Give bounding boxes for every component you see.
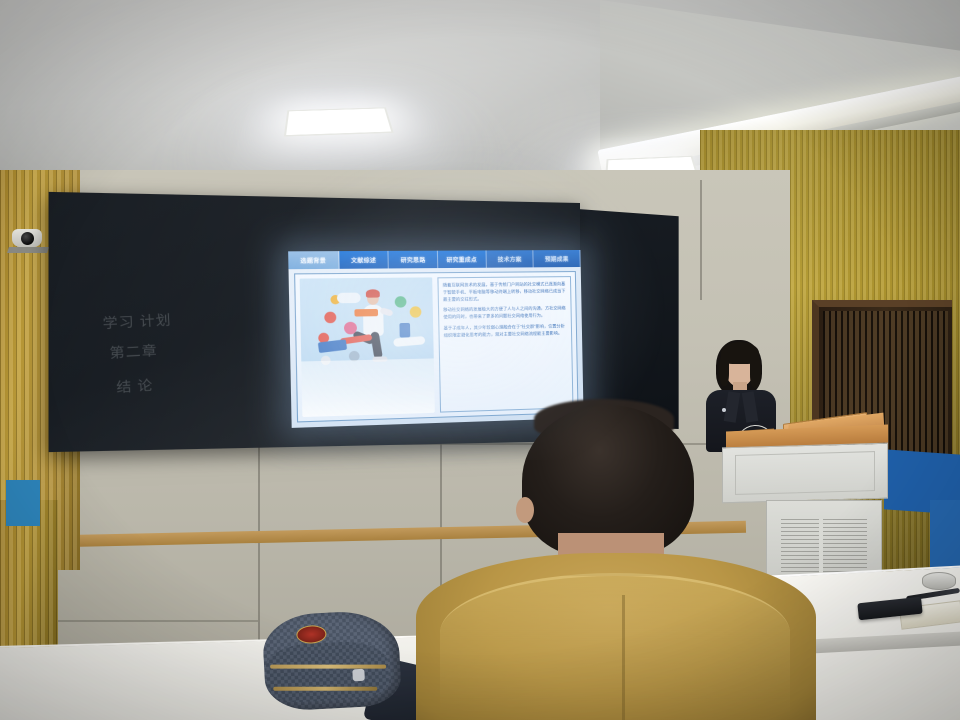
slide-paragraph-1: 随着互联网技术的发展，基于传统门户网站的社交模式已逐渐向基于智能手机、平板电脑等… [443, 281, 567, 303]
social-media-illustration [300, 277, 435, 417]
tab-research-approach[interactable]: 研究思路 [389, 251, 438, 269]
camera-lens-icon [21, 232, 34, 245]
seated-student-back-view [430, 405, 830, 720]
tab-research-focus[interactable]: 研究重成点 [438, 250, 487, 268]
slide-surface: 选题背景 文献综述 研究思路 研究重成点 技术方案 预期成果 [288, 250, 583, 428]
chalk-note: 学习 计划 [102, 309, 172, 333]
backpack-flap [265, 640, 390, 704]
ceiling-led-panel-left [284, 107, 394, 136]
slide-paragraph-2: 移动社交网络的发展极大的方便了人与人之间的沟通，方社交网络使用的同时，也带来了更… [443, 305, 567, 321]
presenter-hair-side-left [719, 352, 729, 386]
illustration-icon-thumbsup [399, 323, 410, 338]
slide-content-area: 随着互联网技术的发展，基于传统门户网站的社交模式已逐渐向基于智能手机、平板电脑等… [294, 271, 578, 422]
backpack-zipper-lower [273, 687, 377, 691]
illustration-icon-heart [324, 312, 336, 324]
tab-literature-review[interactable]: 文献综述 [339, 251, 389, 269]
illustration-card-white [393, 336, 425, 347]
tab-topic-background[interactable]: 选题背景 [288, 251, 339, 269]
camera-mount-bracket [7, 247, 49, 253]
slide-text-panel: 随着互联网技术的发展，基于传统门户网站的社交模式已逐渐向基于智能手机、平板电脑等… [437, 276, 573, 413]
chalk-note: 结 论 [116, 374, 154, 397]
backpack[interactable] [261, 604, 419, 720]
illustration-icon-chat [395, 296, 407, 308]
projected-slide: 选题背景 文献综述 研究思路 研究重成点 技术方案 预期成果 [288, 250, 583, 428]
student-jacket-seam [622, 595, 625, 720]
slide-paragraph-3: 基于子成年人，其少年较弱心理融合在于“社交群”影响，位置分析组织限定避化思考的能… [444, 323, 568, 339]
illustration-icon-star [410, 306, 422, 317]
illustration-reflection [301, 359, 435, 417]
lecture-hall-scene: 学习 计划 第二章 结 论 选题背景 文献综述 研究思路 研究重成点 技术方案 … [0, 0, 960, 720]
illustration-banner-orange [354, 309, 378, 317]
tab-technical-plan[interactable]: 技术方案 [486, 250, 534, 268]
wall-seam [258, 430, 260, 660]
backpack-zipper-pull [352, 669, 365, 682]
wall-seam [700, 180, 702, 300]
illustration-cloud [337, 293, 361, 304]
wall-seam [58, 620, 258, 622]
backpack-zipper-upper [270, 665, 386, 669]
thermos-cup[interactable] [922, 572, 956, 590]
illustration-card-blue [318, 339, 347, 353]
presenter-hair-side-right [750, 352, 761, 388]
slide-tab-bar: 选题背景 文献综述 研究思路 研究重成点 技术方案 预期成果 [288, 250, 581, 269]
student-hood [440, 573, 790, 720]
ptz-camera [12, 225, 46, 251]
chalk-note: 第二章 [109, 339, 158, 362]
student-ear [516, 497, 534, 523]
tab-expected-results[interactable]: 预期成果 [534, 250, 581, 267]
illustration-figure-hair [366, 289, 380, 297]
blue-accent-panel-left [6, 480, 40, 526]
